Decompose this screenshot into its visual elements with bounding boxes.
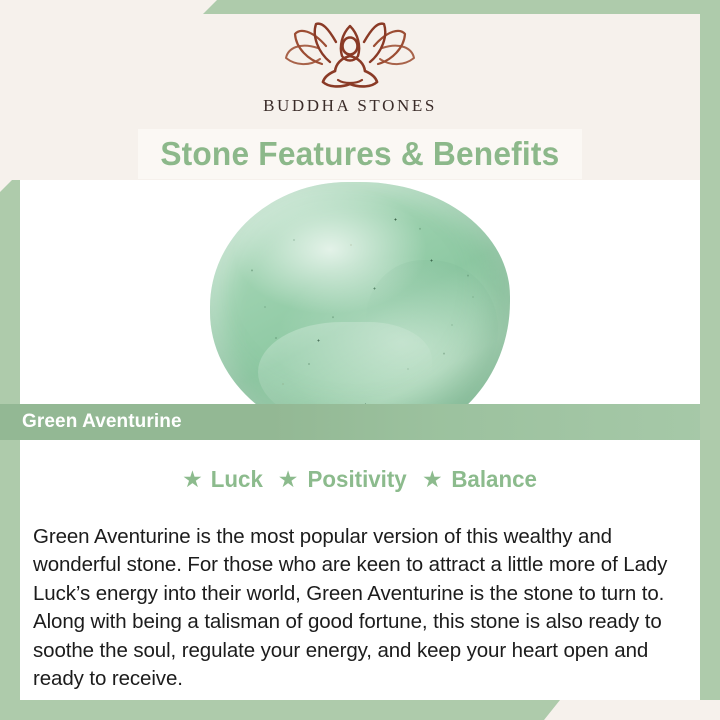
stone-name-label: Green Aventurine (22, 411, 182, 433)
brand-logo: BUDDHA STONES (0, 18, 700, 116)
frame-accent-left (0, 178, 20, 720)
benefit-label: Luck (211, 466, 263, 493)
frame-accent-right (700, 0, 720, 700)
benefit-item-positivity: ★ Positivity (278, 466, 408, 493)
aventurine-stone-image (210, 182, 510, 412)
stone-description: Green Aventurine is the most popular ver… (33, 523, 693, 694)
title-banner: Stone Features & Benefits (138, 129, 582, 179)
brand-wordmark: BUDDHA STONES (0, 96, 700, 116)
star-icon: ★ (278, 469, 299, 490)
benefits-row: ★ Luck ★ Positivity ★ Balance (20, 466, 700, 493)
stone-speckles-fine (210, 182, 510, 412)
benefit-item-balance: ★ Balance (422, 466, 538, 493)
stone-photo (20, 180, 700, 412)
benefit-item-luck: ★ Luck (182, 466, 264, 493)
benefit-label: Positivity (307, 466, 406, 493)
product-feature-poster: BUDDHA STONES Stone Features & Benefits … (0, 0, 720, 720)
lotus-meditation-figure-icon (266, 18, 434, 92)
banner-photo-tint (270, 404, 700, 440)
stone-name-banner: Green Aventurine (0, 404, 700, 440)
page-title: Stone Features & Benefits (160, 135, 559, 173)
benefit-label: Balance (451, 466, 537, 493)
star-icon: ★ (422, 469, 443, 490)
star-icon: ★ (182, 469, 203, 490)
frame-accent-bottom (0, 700, 560, 720)
